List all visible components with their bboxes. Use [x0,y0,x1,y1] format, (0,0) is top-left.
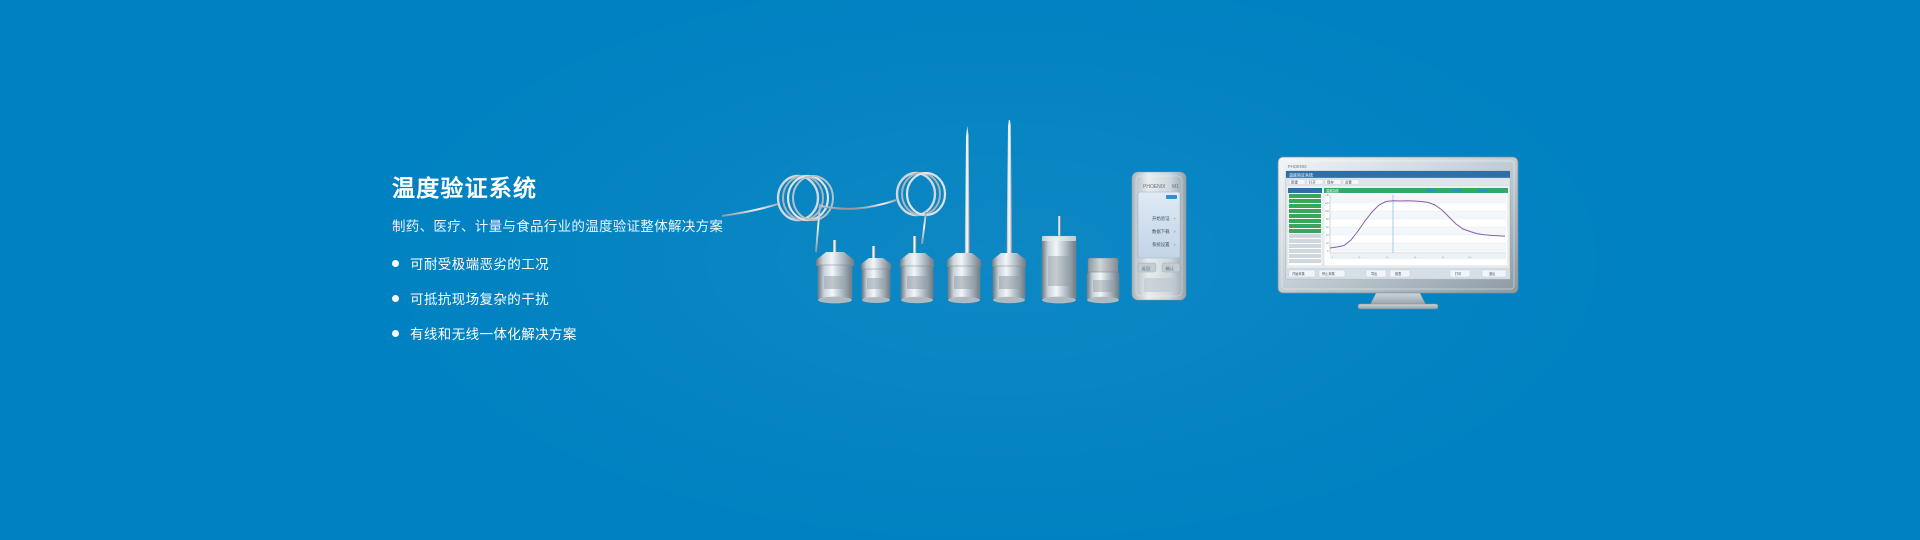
svg-text:温度验证系统: 温度验证系统 [1289,171,1313,177]
feature-list: 可耐受极端恶劣的工况 可抵抗现场复杂的干扰 有线和无线一体化解决方案 [392,253,822,343]
feature-label: 可抵抗现场复杂的干扰 [410,288,549,308]
bullet-dot-icon [392,295,399,302]
bullet-dot-icon [392,330,399,337]
svg-text:导出: 导出 [1371,271,1377,276]
svg-text:新建: 新建 [1291,179,1298,184]
svg-text:设置: 设置 [1345,179,1352,184]
chart-title-label: 温度曲线 [1326,188,1340,193]
panel-pc: PHOENIX 温度验证系统 新建 打开 保存 设置 [1276,155,1536,320]
svg-text:开始验证: 开始验证 [1152,215,1170,222]
hero-banner: 温度验证系统 制药、医疗、计量与食品行业的温度验证整体解决方案 可耐受极端恶劣的… [0,0,1920,540]
svg-text:打印: 打印 [1455,271,1461,276]
svg-text:停止采集: 停止采集 [1322,271,1336,276]
feature-label: 有线和无线一体化解决方案 [410,323,577,343]
hero-copy: 温度验证系统 制药、医疗、计量与食品行业的温度验证整体解决方案 可耐受极端恶劣的… [392,176,822,358]
svg-text:打开: 打开 [1309,179,1316,184]
svg-text:保存: 保存 [1327,179,1334,184]
list-item: 有线和无线一体化解决方案 [392,323,822,343]
logger-body-4 [947,253,981,303]
handheld-model-label: M1 [1172,184,1179,190]
page-title: 温度验证系统 [392,176,822,201]
handheld-status-badge [1166,195,1177,199]
needle-probe-taller [1006,120,1012,270]
svg-text:120: 120 [1325,202,1330,205]
list-item: 可抵抗现场复杂的干扰 [392,288,822,308]
monitor-brand-label: PHOENIX [1288,164,1307,169]
svg-text:140: 140 [1325,194,1330,197]
svg-text:数据下载: 数据下载 [1152,228,1170,235]
handheld-terminal: PHOENIX M1 开始验证› 数据下载› 系统设置› 返回 确认 [1132,172,1186,300]
logger-body-5 [992,253,1026,303]
logger-body-2 [861,258,891,303]
wireless-logger-short [1087,258,1119,303]
svg-text:退出: 退出 [1489,271,1495,276]
wireless-logger-tall [1042,216,1076,303]
page-subtitle: 制药、医疗、计量与食品行业的温度验证整体解决方案 [392,219,822,235]
feature-label: 可耐受极端恶劣的工况 [410,253,549,273]
list-item: 可耐受极端恶劣的工况 [392,253,822,273]
logger-body-3 [900,253,934,303]
svg-text:开始采集: 开始采集 [1292,271,1306,276]
svg-text:系统设置: 系统设置 [1152,241,1170,248]
bullet-dot-icon [392,260,399,267]
svg-text:报表: 报表 [1395,271,1402,276]
needle-probe-tall [965,126,970,270]
svg-text:确认: 确认 [1166,265,1175,272]
handheld-brand-label: PHOENIX [1143,184,1166,190]
svg-text:返回: 返回 [1142,265,1150,272]
svg-text:100: 100 [1325,210,1330,213]
